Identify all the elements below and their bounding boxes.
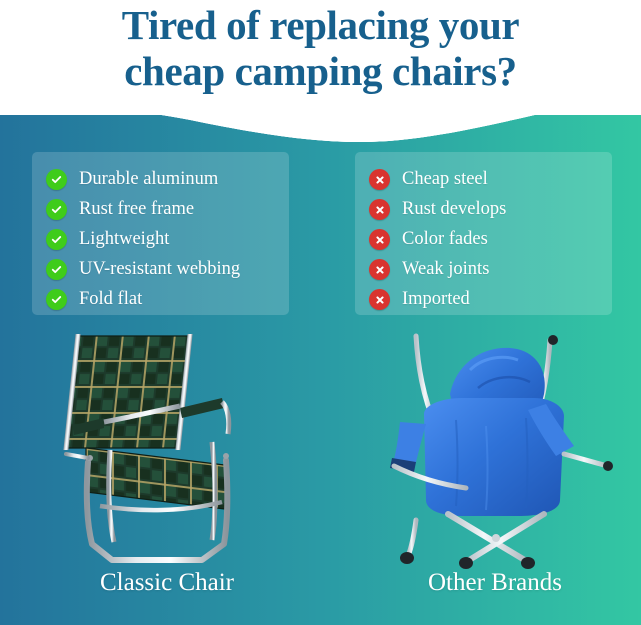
list-item-label: Weak joints (402, 259, 489, 280)
pros-feature-list: Durable aluminum Rust free frame Lightwe… (32, 152, 289, 314)
x-icon (369, 289, 390, 310)
list-item: Cheap steel (369, 165, 612, 194)
check-icon (46, 229, 67, 250)
check-icon (46, 289, 67, 310)
list-item-label: Fold flat (79, 289, 142, 310)
list-item: Rust develops (369, 195, 612, 224)
x-icon (369, 229, 390, 250)
comparison-infographic: Tired of replacing your cheap camping ch… (0, 0, 641, 625)
x-icon (369, 169, 390, 190)
list-item-label: Rust develops (402, 199, 506, 220)
product-caption-right: Other Brands (350, 568, 640, 597)
list-item: Color fades (369, 225, 612, 254)
list-item: UV-resistant webbing (46, 255, 289, 284)
product-image-classic-chair (52, 330, 282, 570)
headline-line-1: Tired of replacing your (0, 2, 641, 48)
x-icon (369, 199, 390, 220)
cons-panel: Cheap steel Rust develops Color fades (355, 152, 612, 315)
header-area: Tired of replacing your cheap camping ch… (0, 0, 641, 115)
cons-feature-list: Cheap steel Rust develops Color fades (355, 152, 612, 314)
check-icon (46, 259, 67, 280)
x-icon (369, 259, 390, 280)
list-item-label: Imported (402, 289, 470, 310)
pros-panel: Durable aluminum Rust free frame Lightwe… (32, 152, 289, 315)
product-image-other-brands-chair (378, 330, 614, 570)
headline-line-2: cheap camping chairs? (0, 48, 641, 94)
list-item: Fold flat (46, 285, 289, 314)
page-title: Tired of replacing your cheap camping ch… (0, 2, 641, 94)
list-item-label: Color fades (402, 229, 488, 250)
list-item: Lightweight (46, 225, 289, 254)
list-item-label: Rust free frame (79, 199, 194, 220)
check-icon (46, 199, 67, 220)
list-item: Imported (369, 285, 612, 314)
list-item-label: Lightweight (79, 229, 169, 250)
list-item-label: Cheap steel (402, 169, 488, 190)
list-item: Durable aluminum (46, 165, 289, 194)
list-item-label: Durable aluminum (79, 169, 218, 190)
check-icon (46, 169, 67, 190)
list-item: Weak joints (369, 255, 612, 284)
list-item: Rust free frame (46, 195, 289, 224)
product-caption-left: Classic Chair (22, 568, 312, 597)
list-item-label: UV-resistant webbing (79, 259, 240, 280)
